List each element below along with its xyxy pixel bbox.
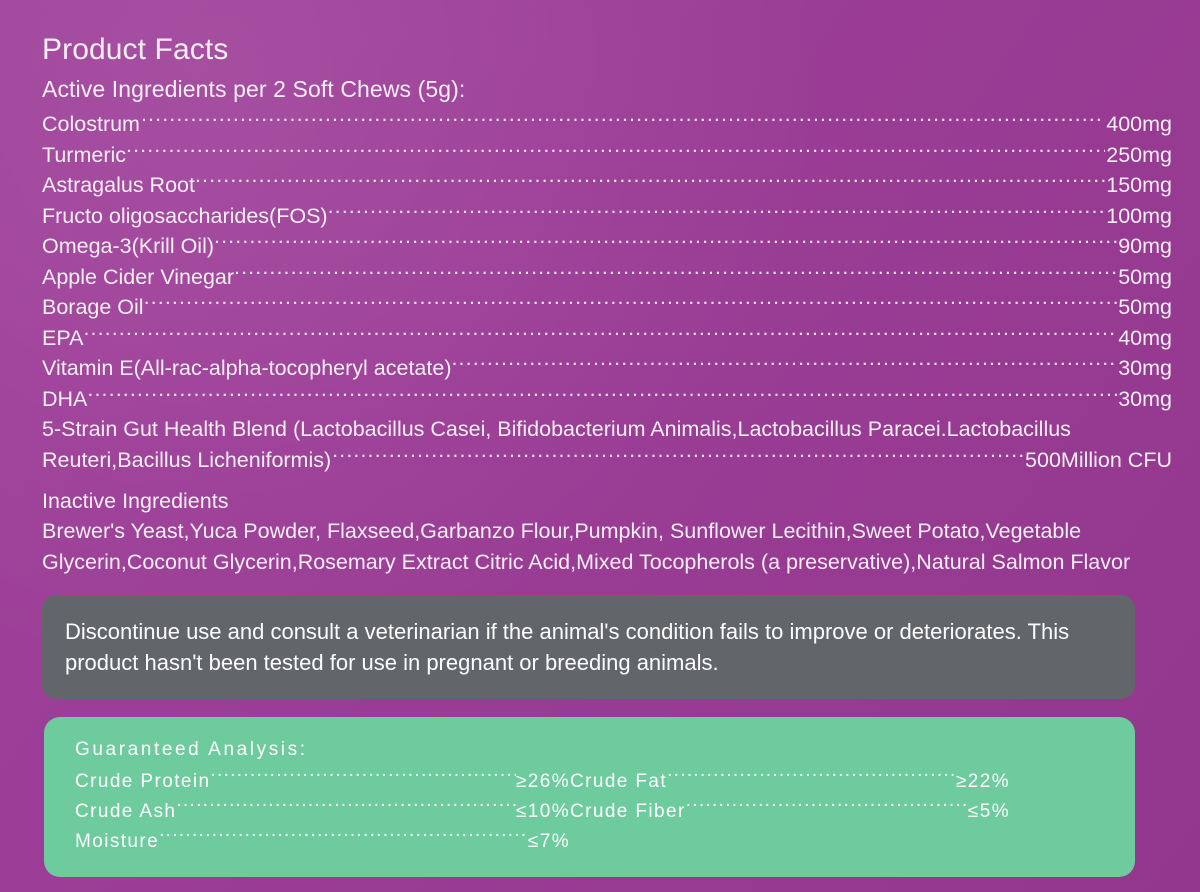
dot-leader [176,798,516,817]
guaranteed-analysis-title: Guaranteed Analysis: [75,735,1109,765]
analysis-row: Crude Ash ≤10% [75,797,570,827]
warning-text: Discontinue use and consult a veterinari… [65,616,1111,678]
dot-leader [451,354,1117,376]
ingredient-name: DHA [42,384,87,415]
inactive-ingredients-body: Brewer's Yeast,Yuca Powder, Flaxseed,Gar… [42,516,1182,578]
product-facts-label: Product Facts Active Ingredients per 2 S… [0,0,1200,892]
analysis-row: Moisture ≤7% [75,827,570,857]
guaranteed-analysis-box: Guaranteed Analysis: Crude Protein ≥26% … [44,717,1135,877]
blend-amount: 500Million CFU [1025,445,1172,476]
ingredient-name: Borage Oil [42,292,144,323]
analysis-name: Crude Protein [75,767,210,797]
ingredient-name: Turmeric [42,140,126,171]
analysis-value: ≥22% [956,767,1010,797]
dot-leader [210,768,516,787]
analysis-row: Crude Fat ≥22% [570,767,1010,797]
dot-leader [83,323,1117,345]
ingredient-row: Omega-3(Krill Oil) 90mg [42,231,1172,262]
dot-leader [332,445,1024,467]
dot-leader [195,171,1105,193]
analysis-value: ≤7% [528,827,570,857]
ingredient-amount: 50mg [1118,292,1172,323]
inactive-ingredients-heading: Inactive Ingredients [42,486,1172,516]
analysis-row: Crude Protein ≥26% [75,767,570,797]
dot-leader [234,262,1117,284]
blend-name-line2: Reuteri,Bacillus Licheniformis) [42,445,331,476]
ingredient-amount: 100mg [1106,201,1172,232]
ingredient-name: Colostrum [42,109,140,140]
ingredient-amount: 40mg [1118,323,1172,354]
ingredient-row: Borage Oil 50mg [42,292,1172,323]
active-ingredients-heading: Active Ingredients per 2 Soft Chews (5g)… [42,75,1172,104]
ingredient-name: Vitamin E(All-rac-alpha-tocopheryl aceta… [42,353,451,384]
analysis-value: ≤5% [968,797,1010,827]
dot-leader [144,293,1118,315]
gut-health-blend-row: 5-Strain Gut Health Blend (Lactobacillus… [42,414,1172,475]
guaranteed-analysis-columns: Crude Protein ≥26% Crude Ash ≤10% Moistu… [75,767,1109,857]
analysis-value: ≤10% [516,797,570,827]
ingredient-amount: 250mg [1106,140,1172,171]
ingredient-name: EPA [42,323,83,354]
dot-leader [87,384,1117,406]
analysis-name: Crude Ash [75,797,176,827]
guaranteed-analysis-right-column: Crude Fat ≥22% Crude Fiber ≤5% [570,767,1010,857]
dot-leader [667,768,956,787]
warning-box: Discontinue use and consult a veterinari… [42,595,1135,699]
guaranteed-analysis-left-column: Crude Protein ≥26% Crude Ash ≤10% Moistu… [75,767,570,857]
dot-leader [214,232,1117,254]
ingredient-name: Apple Cider Vinegar [42,262,234,293]
ingredient-row: Colostrum 400mg [42,109,1172,140]
ingredient-amount: 50mg [1118,262,1172,293]
dot-leader [328,201,1106,223]
ingredient-name: Astragalus Root [42,170,195,201]
ingredient-amount: 30mg [1118,384,1172,415]
dot-leader [159,828,528,847]
active-ingredients-list: Colostrum 400mg Turmeric 250mg Astragalu… [42,109,1172,414]
analysis-name: Crude Fat [570,767,667,797]
ingredient-row: Astragalus Root 150mg [42,170,1172,201]
ingredient-amount: 30mg [1118,353,1172,384]
analysis-value: ≥26% [516,767,570,797]
ingredient-name: Fructo oligosaccharides(FOS) [42,201,328,232]
ingredient-amount: 150mg [1106,170,1172,201]
ingredient-row: Vitamin E(All-rac-alpha-tocopheryl aceta… [42,353,1172,384]
dot-leader [686,798,968,817]
ingredient-row: DHA 30mg [42,384,1172,415]
analysis-name: Moisture [75,827,159,857]
dot-leader [141,110,1105,132]
ingredient-row: Apple Cider Vinegar 50mg [42,262,1172,293]
ingredient-row: Fructo oligosaccharides(FOS) 100mg [42,201,1172,232]
blend-name-line1: 5-Strain Gut Health Blend (Lactobacillus… [42,414,1172,445]
analysis-name: Crude Fiber [570,797,686,827]
analysis-row: Crude Fiber ≤5% [570,797,1010,827]
page-title: Product Facts [42,32,1172,69]
ingredient-row: EPA 40mg [42,323,1172,354]
ingredient-row: Turmeric 250mg [42,140,1172,171]
ingredient-amount: 90mg [1118,231,1172,262]
blend-name-line2-row: Reuteri,Bacillus Licheniformis) 500Milli… [42,445,1172,476]
ingredient-name: Omega-3(Krill Oil) [42,231,214,262]
ingredient-amount: 400mg [1106,109,1172,140]
dot-leader [126,140,1105,162]
